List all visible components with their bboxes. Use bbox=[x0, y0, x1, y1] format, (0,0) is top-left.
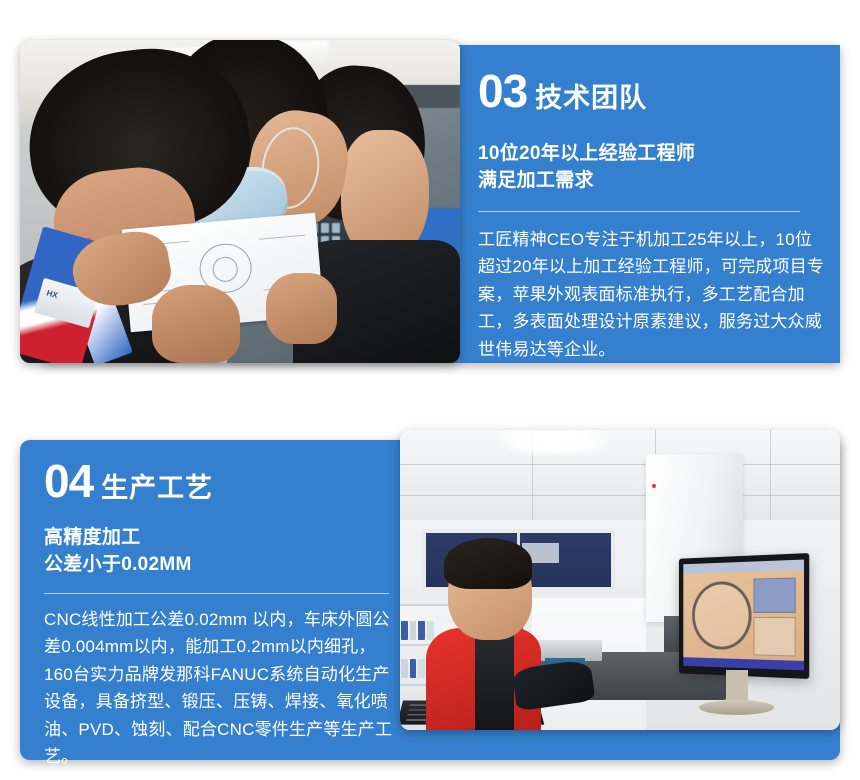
card-03-subtitle-line-1: 10位20年以上经验工程师 bbox=[478, 140, 828, 168]
cnc-operators-photo-illustration: HX bbox=[20, 40, 460, 363]
card-03-photo: HX bbox=[20, 40, 460, 363]
measured-circle-graphic bbox=[692, 581, 751, 651]
worker-hair bbox=[444, 538, 532, 589]
software-toolbar bbox=[684, 560, 804, 574]
card-04-text-block: 04 生产工艺 高精度加工 公差小于0.02MM CNC线性加工公差0.02mm… bbox=[44, 460, 404, 771]
cmm-monitor bbox=[679, 553, 810, 679]
feature-card-04: 04 生产工艺 高精度加工 公差小于0.02MM CNC线性加工公差0.02mm… bbox=[0, 430, 860, 760]
worker-inner-shirt bbox=[475, 634, 515, 730]
card-03-subtitle-line-2: 满足加工需求 bbox=[478, 167, 828, 195]
software-data-panel bbox=[753, 617, 795, 656]
card-04-divider bbox=[44, 593, 389, 594]
worker-hand-right bbox=[266, 273, 336, 344]
card-04-body-text: CNC线性加工公差0.02mm 以内，车床外圆公差0.004mm以内，能加工0.… bbox=[44, 606, 404, 771]
monitor-base bbox=[699, 700, 774, 715]
lab-ceiling bbox=[400, 430, 840, 520]
card-03-divider bbox=[478, 211, 800, 212]
card-04-number: 04 bbox=[44, 460, 93, 504]
ceiling-light bbox=[497, 430, 611, 454]
worker-hand-center bbox=[152, 285, 240, 363]
card-04-photo bbox=[400, 430, 840, 730]
card-04-title: 生产工艺 bbox=[101, 475, 213, 502]
software-side-panel bbox=[753, 577, 795, 612]
cmm-software-screen bbox=[684, 560, 804, 670]
card-03-heading: 03 技术团队 bbox=[478, 70, 828, 114]
software-taskbar bbox=[684, 657, 804, 670]
card-04-subtitle-line-2: 公差小于0.02MM bbox=[44, 551, 404, 579]
card-03-text-block: 03 技术团队 10位20年以上经验工程师 满足加工需求 工匠精神CEO专注于机… bbox=[478, 70, 828, 363]
drawing-line bbox=[258, 234, 304, 239]
feature-card-03: HX 03 技术团队 10位20年以上经验工程 bbox=[0, 0, 860, 365]
cmm-lab-photo-illustration bbox=[400, 430, 840, 730]
card-03-title: 技术团队 bbox=[535, 85, 647, 112]
card-03-number: 03 bbox=[478, 70, 527, 114]
card-04-subtitle-line-1: 高精度加工 bbox=[44, 524, 404, 552]
marketing-page: HX 03 技术团队 10位20年以上经验工程 bbox=[0, 0, 860, 780]
card-04-heading: 04 生产工艺 bbox=[44, 460, 404, 504]
card-03-body-text: 工匠精神CEO专注于机加工25年以上，10位超过20年以上加工经验工程师，可完成… bbox=[478, 226, 828, 364]
